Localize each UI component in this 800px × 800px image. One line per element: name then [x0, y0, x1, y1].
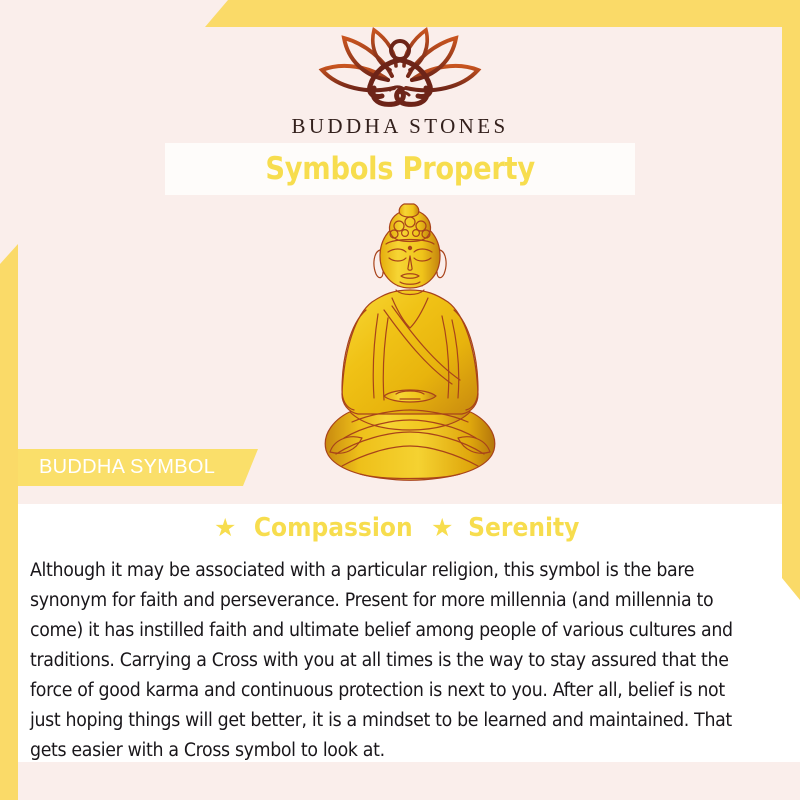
golden-seated-buddha-icon [300, 198, 520, 496]
brand-name: BUDDHA STONES [0, 114, 800, 139]
symbol-attributes-subtitle: ★ Compassion ★ Serenity [0, 513, 800, 543]
buddha-statue-image [300, 198, 520, 496]
description-paragraph: Although it may be associated with a par… [30, 556, 741, 766]
star-icon-left: ★ [214, 513, 236, 542]
ribbon-label: BUDDHA SYMBOL [18, 456, 215, 479]
lotus-meditation-icon [308, 22, 492, 110]
attribute-serenity: Serenity [469, 513, 580, 543]
brand-header: BUDDHA STONES [0, 22, 800, 139]
buddha-symbol-ribbon: BUDDHA SYMBOL [18, 449, 258, 486]
promo-graphic-page: BUDDHA STONES Symbols Property [0, 0, 800, 800]
page-title: Symbols Property [265, 151, 534, 187]
star-icon-right: ★ [431, 513, 453, 542]
attribute-compassion: Compassion [254, 513, 413, 543]
title-banner: Symbols Property [165, 143, 635, 195]
bottom-cream-strip [0, 762, 800, 800]
